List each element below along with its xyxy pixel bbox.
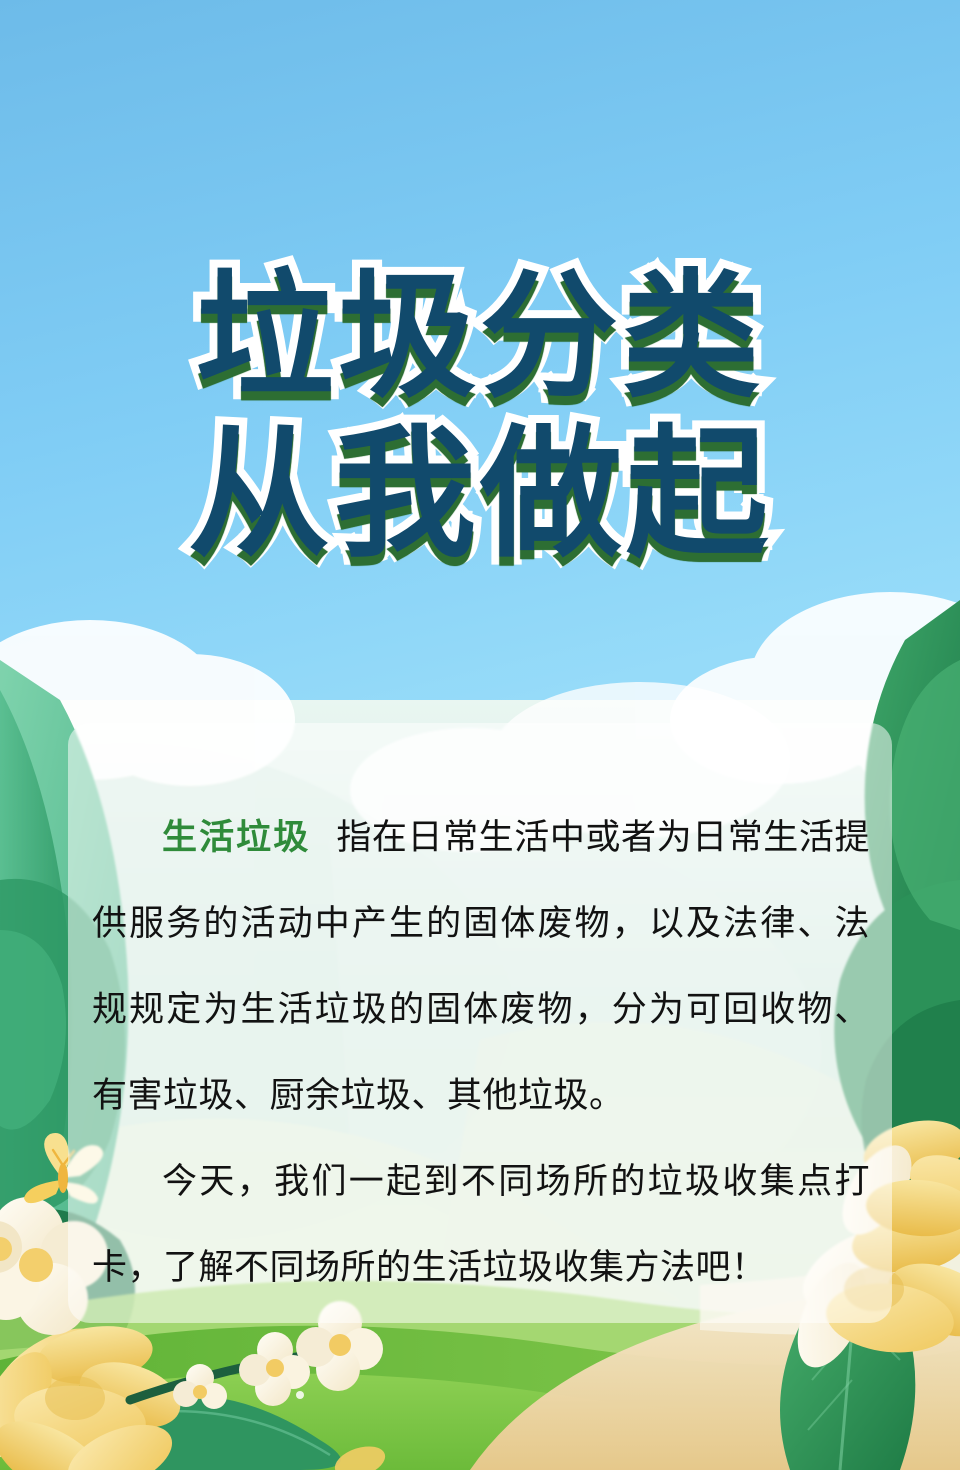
body-text-block: 生活垃圾指在日常生活中或者为日常生活提供服务的活动中产生的固体废物，以及法律、法… [92, 795, 870, 1311]
paragraph-definition: 生活垃圾指在日常生活中或者为日常生活提供服务的活动中产生的固体废物，以及法律、法… [92, 795, 870, 1139]
paragraph-definition-text: 指在日常生活中或者为日常生活提供服务的活动中产生的固体废物，以及法律、法规规定为… [92, 818, 870, 1116]
poster-root: 垃圾分类 从我做起 生活垃圾指在日常生活中或者为日常生活提供服务的活动中产生的固… [0, 0, 960, 1470]
term-household-waste: 生活垃圾 [162, 818, 310, 858]
paragraph-invitation: 今天，我们一起到不同场所的垃圾收集点打卡，了解不同场所的生活垃圾收集方法吧！ [92, 1139, 870, 1311]
